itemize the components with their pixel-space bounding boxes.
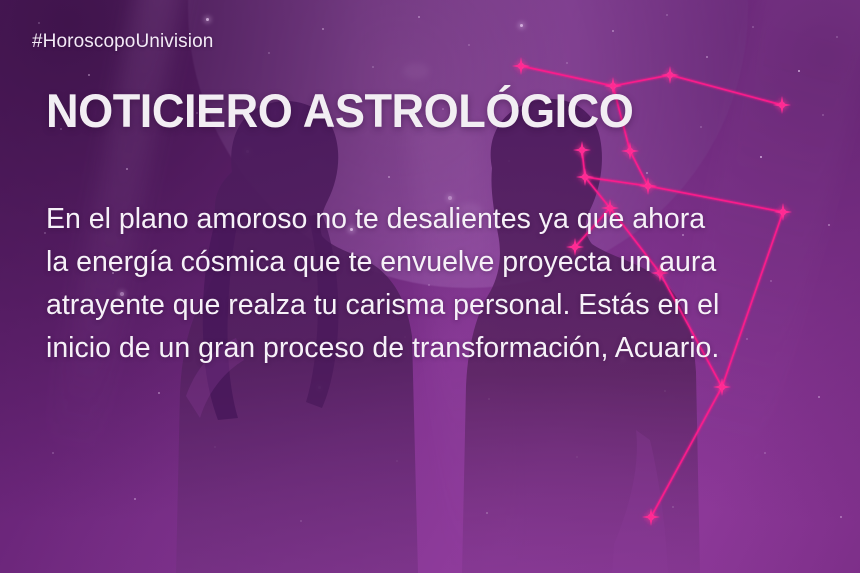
body-line-2: la energía cósmica que te envuelve proye… bbox=[46, 241, 836, 284]
horoscope-card: #HoroscopoUnivision NOTICIERO ASTROLÓGIC… bbox=[0, 0, 860, 573]
card-content: #HoroscopoUnivision NOTICIERO ASTROLÓGIC… bbox=[0, 0, 860, 573]
body-line-3: atrayente que realza tu carisma personal… bbox=[46, 284, 836, 327]
horoscope-body: En el plano amoroso no te desalientes ya… bbox=[46, 198, 836, 370]
body-line-1: En el plano amoroso no te desalientes ya… bbox=[46, 198, 836, 241]
page-title: NOTICIERO ASTROLÓGICO bbox=[46, 87, 633, 134]
hashtag-label: #HoroscopoUnivision bbox=[32, 31, 213, 53]
body-line-4: inicio de un gran proceso de transformac… bbox=[46, 327, 836, 370]
